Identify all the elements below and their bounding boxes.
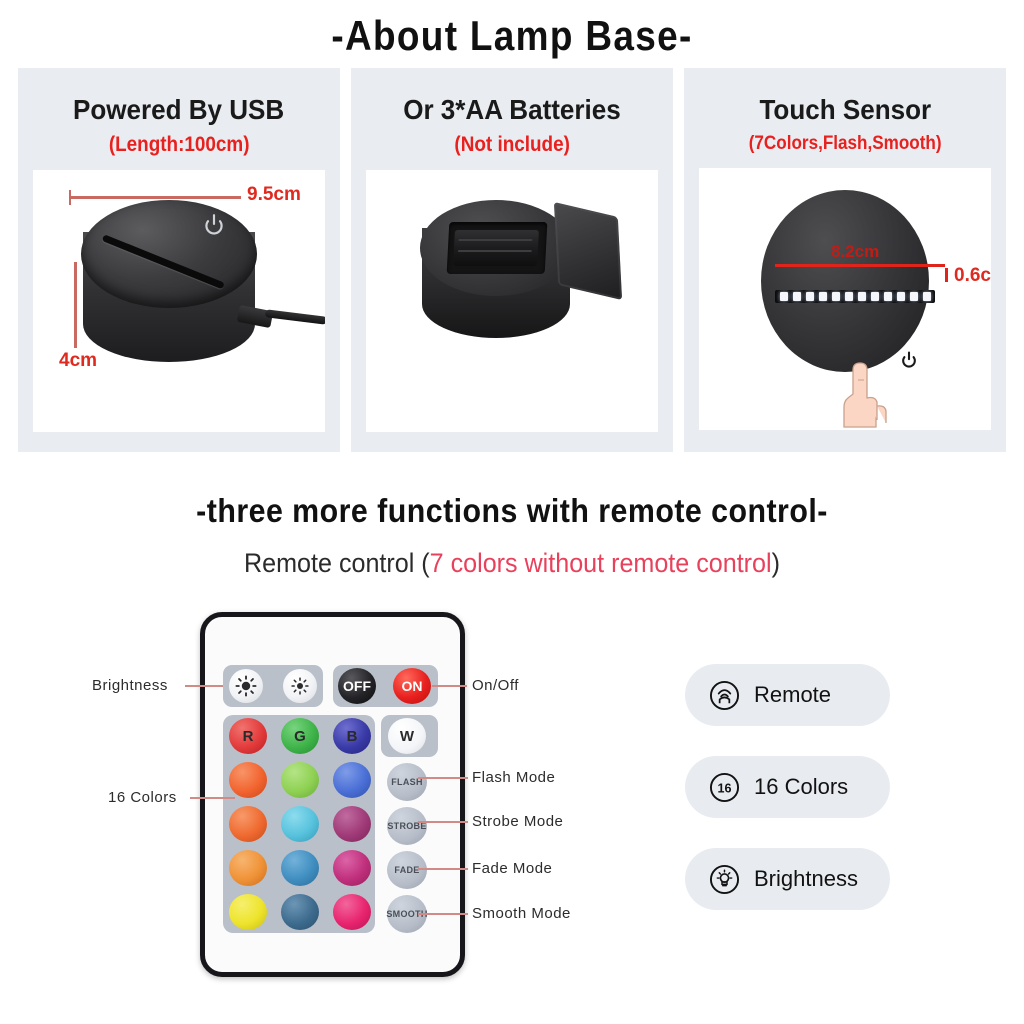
brightness-up-button[interactable]	[229, 669, 263, 703]
height-dimension-label: 4cm	[59, 350, 97, 372]
color-button-r3c1[interactable]	[229, 806, 267, 842]
leader-line-fade	[418, 868, 468, 870]
remote-section-heading: -three more functions with remote contro…	[41, 492, 983, 530]
strip-height-dimension-tick	[945, 268, 948, 282]
panel-touch-sensor: Touch Sensor (7Colors,Flash,Smooth)	[684, 68, 1006, 452]
fade-mode-button[interactable]: FADE	[387, 851, 427, 889]
leader-line-on-off	[432, 685, 467, 687]
photo-touch-sensor: 8.2cm 0.6cm	[699, 168, 991, 430]
pill-label-remote: Remote	[754, 682, 831, 708]
power-symbol-icon	[899, 350, 919, 370]
color-button-red[interactable]: R	[229, 718, 267, 754]
flash-mode-button[interactable]: FLASH	[387, 763, 427, 801]
color-button-r2c3[interactable]	[333, 762, 371, 798]
svg-text:16: 16	[718, 781, 732, 795]
battery-base-underside	[420, 200, 572, 296]
sub-prefix: Remote control (	[244, 548, 430, 578]
battery-divider	[458, 239, 532, 241]
off-button[interactable]: OFF	[338, 668, 376, 704]
panel-aa-batteries: Or 3*AA Batteries (Not include)	[351, 68, 673, 452]
color-button-blue[interactable]: B	[333, 718, 371, 754]
panel-title-batteries: Or 3*AA Batteries	[403, 94, 621, 126]
power-symbol-icon	[201, 212, 227, 238]
strobe-mode-button[interactable]: STROBE	[387, 807, 427, 845]
led	[780, 292, 788, 301]
callout-smooth-mode: Smooth Mode	[472, 905, 571, 922]
photo-usb-base: 9.5cm 4cm	[33, 170, 325, 432]
sub-red-text: 7 colors without remote control	[430, 548, 772, 578]
callout-brightness: Brightness	[92, 677, 168, 694]
usb-cable	[265, 309, 325, 324]
led	[858, 292, 866, 301]
color-button-r3c2[interactable]	[281, 806, 319, 842]
panel-title-usb: Powered By USB	[73, 94, 284, 126]
led	[897, 292, 905, 301]
remote-section-subheading: Remote control (7 colors without remote …	[36, 548, 988, 579]
leader-line-brightness	[185, 685, 223, 687]
panel-subtitle-batteries: (Not include)	[454, 133, 569, 157]
color-button-white[interactable]: W	[388, 718, 426, 754]
pill-brightness[interactable]: Brightness	[685, 848, 890, 910]
color-button-r4c2[interactable]	[281, 850, 319, 886]
panel-subtitle-touch-sensor: (7Colors,Flash,Smooth)	[749, 133, 942, 155]
callout-on-off: On/Off	[472, 677, 519, 694]
color-button-r3c3[interactable]	[333, 806, 371, 842]
callout-strobe-mode: Strobe Mode	[472, 813, 563, 830]
battery-divider	[458, 250, 532, 252]
width-dimension-line	[69, 196, 241, 199]
callout-flash-mode: Flash Mode	[472, 769, 555, 786]
pill-16-colors[interactable]: 16 16 Colors	[685, 756, 890, 818]
color-button-r4c3[interactable]	[333, 850, 371, 886]
sun-bright-icon	[235, 675, 257, 697]
leader-line-16-colors	[190, 797, 235, 799]
led	[832, 292, 840, 301]
brightness-down-button[interactable]	[283, 669, 317, 703]
remote-control: OFF ON R G B W FLASH STROBE FADE SMOOTH	[200, 612, 465, 977]
color-button-r4c1[interactable]	[229, 850, 267, 886]
led	[871, 292, 879, 301]
strip-width-dimension-label: 8.2cm	[831, 242, 879, 262]
sixteen-circle-icon: 16	[709, 772, 740, 803]
remote-signal-icon	[709, 680, 740, 711]
led	[819, 292, 827, 301]
feature-pills: Remote 16 16 Colors	[685, 664, 890, 940]
color-button-r5c2[interactable]	[281, 894, 319, 930]
led	[923, 292, 931, 301]
infographic-page: -About Lamp Base- Powered By USB (Length…	[0, 0, 1024, 1024]
height-dimension-line	[74, 262, 77, 348]
page-title: -About Lamp Base-	[61, 12, 962, 60]
strip-height-dimension-label: 0.6cm	[954, 265, 991, 287]
lamp-base-top	[81, 200, 257, 308]
acrylic-panel-slot	[102, 234, 225, 289]
leader-line-smooth	[418, 913, 468, 915]
hand-pointing-icon	[827, 336, 901, 430]
panel-title-touch-sensor: Touch Sensor	[759, 94, 931, 126]
led	[910, 292, 918, 301]
led	[806, 292, 814, 301]
pill-label-16-colors: 16 Colors	[754, 774, 848, 800]
color-button-r2c1[interactable]	[229, 762, 267, 798]
leader-line-strobe	[418, 821, 468, 823]
strip-width-dimension-line	[775, 264, 945, 267]
battery-door	[554, 202, 622, 300]
on-button[interactable]: ON	[393, 668, 431, 704]
led	[884, 292, 892, 301]
panel-powered-by-usb: Powered By USB (Length:100cm) 9.5cm 4cm	[18, 68, 340, 452]
panel-subtitle-usb: (Length:100cm)	[109, 133, 250, 157]
battery-cells	[453, 230, 539, 266]
color-button-green[interactable]: G	[281, 718, 319, 754]
bulb-icon	[709, 864, 740, 895]
sub-suffix: )	[772, 548, 780, 578]
led	[845, 292, 853, 301]
sun-dim-icon	[290, 676, 310, 696]
led-strip	[775, 290, 935, 303]
callout-fade-mode: Fade Mode	[472, 860, 552, 877]
led	[793, 292, 801, 301]
leader-line-flash	[418, 777, 468, 779]
color-button-r5c1[interactable]	[229, 894, 267, 930]
color-button-r2c2[interactable]	[281, 762, 319, 798]
callout-16-colors: 16 Colors	[108, 789, 177, 806]
feature-panels: Powered By USB (Length:100cm) 9.5cm 4cm	[18, 68, 1006, 452]
color-button-r5c3[interactable]	[333, 894, 371, 930]
photo-battery-compartment	[366, 170, 658, 432]
width-dimension-label: 9.5cm	[247, 184, 301, 206]
pill-remote[interactable]: Remote	[685, 664, 890, 726]
pill-label-brightness: Brightness	[754, 866, 858, 892]
battery-cavity	[447, 222, 548, 274]
